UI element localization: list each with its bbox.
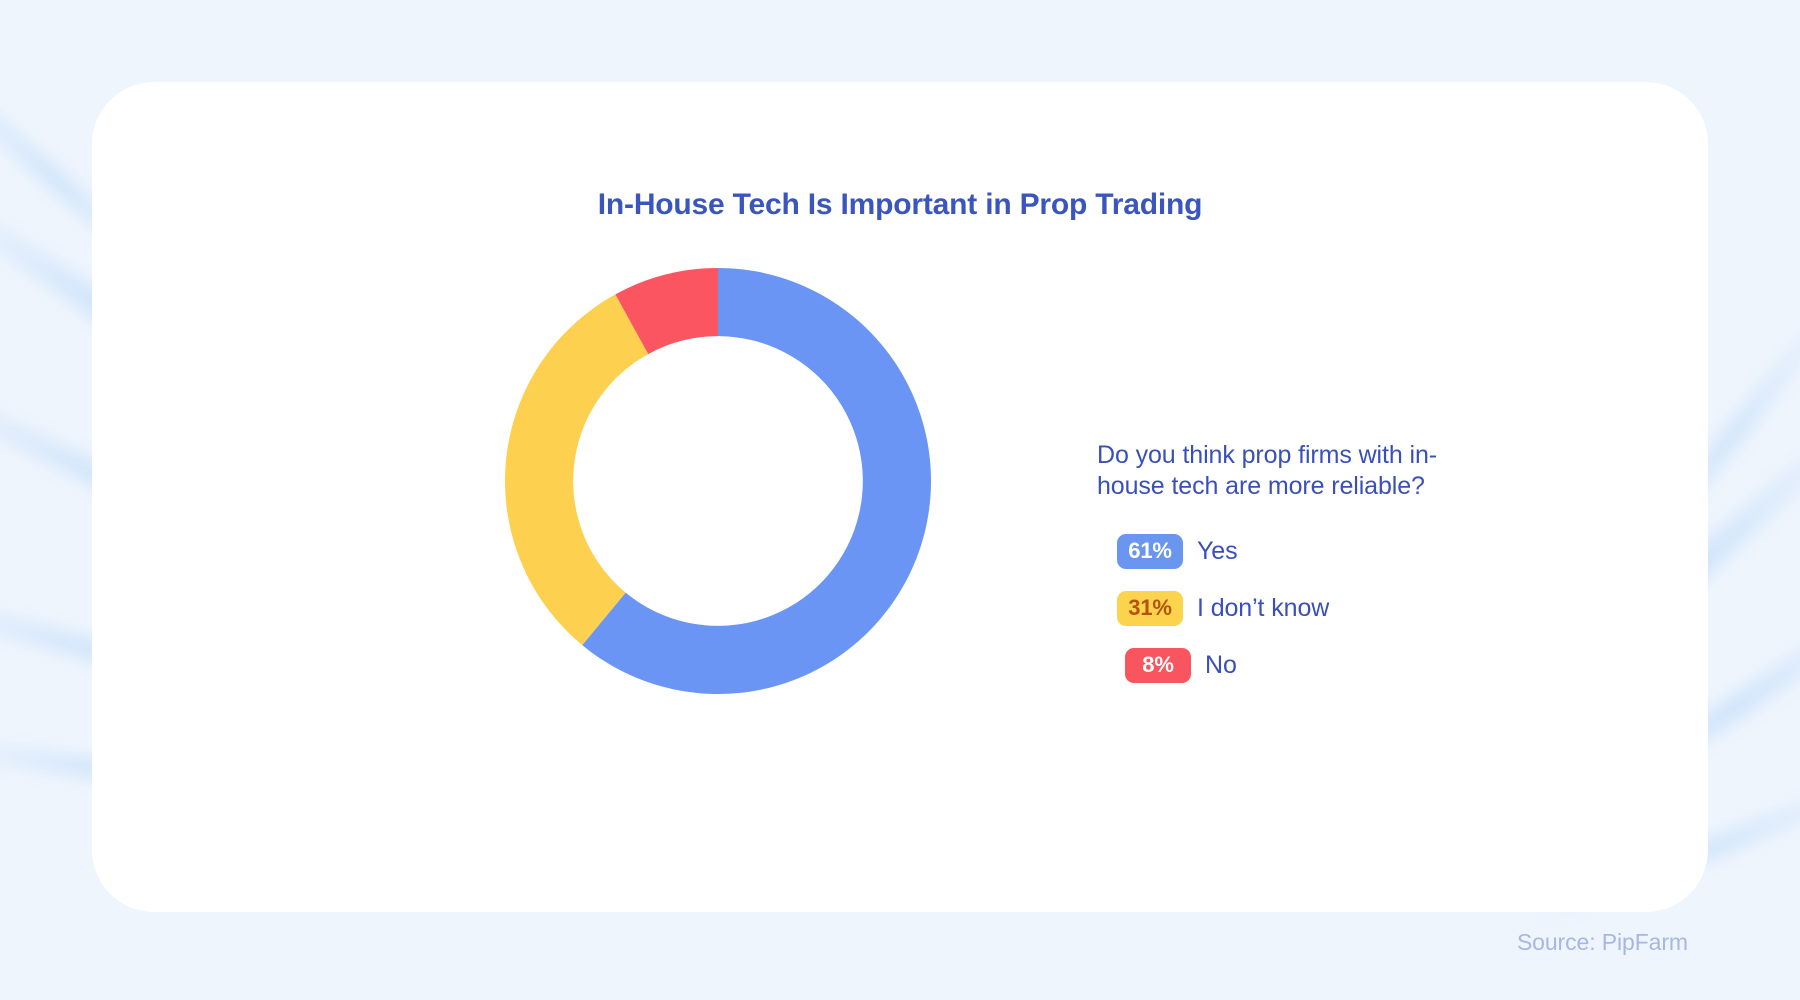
legend: Do you think prop firms with in-house te… bbox=[1097, 440, 1577, 685]
donut-chart bbox=[505, 268, 931, 694]
percent-badge-i-dont-know: 31% bbox=[1117, 591, 1183, 626]
percent-badge-yes: 61% bbox=[1117, 534, 1183, 569]
donut-segment-i-dont-know[interactable] bbox=[505, 294, 648, 645]
legend-item-yes[interactable]: 61% Yes bbox=[1117, 531, 1577, 571]
legend-rows: 61% Yes 31% I don’t know 8% No bbox=[1097, 531, 1577, 685]
page-root: In-House Tech Is Important in Prop Tradi… bbox=[0, 0, 1800, 1000]
legend-item-i-dont-know[interactable]: 31% I don’t know bbox=[1117, 588, 1577, 628]
legend-label-i-dont-know: I don’t know bbox=[1197, 594, 1329, 623]
legend-item-no[interactable]: 8% No bbox=[1125, 645, 1577, 685]
legend-question: Do you think prop firms with in-house te… bbox=[1097, 440, 1489, 501]
source-attribution: Source: PipFarm bbox=[1517, 929, 1688, 956]
legend-label-yes: Yes bbox=[1197, 537, 1237, 566]
donut-chart-svg bbox=[505, 268, 931, 694]
page-title: In-House Tech Is Important in Prop Tradi… bbox=[92, 188, 1708, 222]
legend-label-no: No bbox=[1205, 651, 1237, 680]
chart-card: In-House Tech Is Important in Prop Tradi… bbox=[92, 82, 1708, 912]
percent-badge-no: 8% bbox=[1125, 648, 1191, 683]
